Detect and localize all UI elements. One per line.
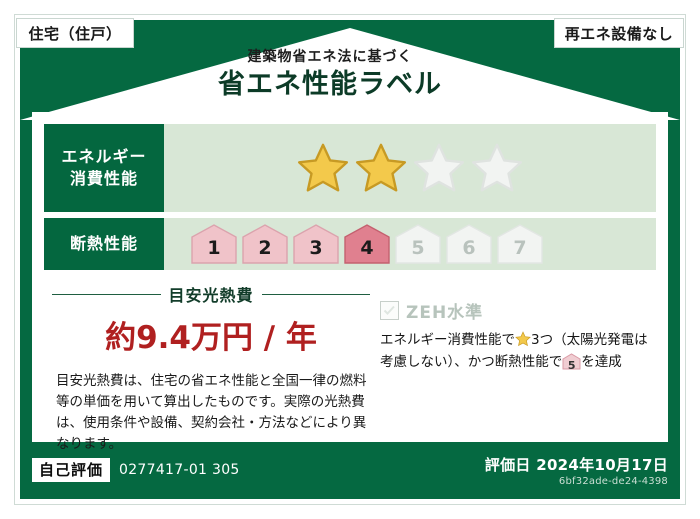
insulation-scale: 1234567 — [190, 224, 544, 264]
insulation-badge-icon: 5 — [562, 353, 581, 370]
label-subtitle: 建築物省エネ法に基づく — [0, 48, 660, 66]
zeh-title: ZEH水準 — [406, 298, 483, 323]
insulation-level-6: 6 — [445, 224, 493, 264]
tag-renewable-energy: 再エネ設備なし — [554, 18, 684, 48]
row-energy-performance: エネルギー 消費性能 — [44, 124, 656, 212]
evaluation-hash: 6bf32ade-de24-4398 — [485, 476, 668, 487]
insulation-level-5: 5 — [394, 224, 442, 264]
zeh-block: ZEH水準 エネルギー消費性能で 3つ（太陽光発電は考慮しない）、かつ断熱性能で… — [380, 298, 654, 373]
roof-title-group: 建築物省エネ法に基づく 省エネ性能ラベル — [0, 48, 660, 102]
row-insulation-label: 断熱性能 — [44, 218, 164, 270]
row-insulation-performance: 断熱性能 1234567 — [44, 218, 656, 270]
row-energy-label-line2: 消費性能 — [70, 168, 138, 190]
utility-cost-title: 目安光熱費 — [169, 282, 254, 306]
insulation-level-value: 4 — [360, 239, 373, 264]
insulation-level-value: 1 — [207, 239, 220, 264]
zeh-description: エネルギー消費性能で 3つ（太陽光発電は考慮しない）、かつ断熱性能で 5を達成 — [380, 329, 654, 373]
row-insulation-value: 1234567 — [164, 218, 656, 270]
star-icon — [515, 331, 531, 347]
energy-label-root: 建築物省エネ法に基づく 省エネ性能ラベル 住宅（住戸） 再エネ設備なし エネルギ… — [0, 0, 700, 519]
utility-cost-heading: 目安光熱費 — [52, 282, 370, 306]
footer-right-group: 評価日 2024年10月17日 6bf32ade-de24-4398 — [485, 454, 668, 487]
insulation-level-value: 3 — [309, 239, 322, 264]
evaluation-id: 0277417-01 305 — [119, 462, 240, 478]
star-rating — [296, 142, 524, 194]
insulation-level-value: 6 — [462, 239, 475, 264]
insulation-level-7: 7 — [496, 224, 544, 264]
self-evaluation-badge: 自己評価 — [32, 458, 110, 482]
rule-right — [262, 294, 371, 295]
label-title: 省エネ性能ラベル — [0, 68, 660, 102]
insulation-level-4: 4 — [343, 224, 391, 264]
insulation-level-value: 5 — [411, 239, 424, 264]
row-energy-label: エネルギー 消費性能 — [44, 124, 164, 212]
utility-cost-note: 目安光熱費は、住宅の省エネ性能と全国一律の燃料等の単価を用いて算出したものです。… — [52, 371, 370, 455]
utility-cost-block: 目安光熱費 約9.4万円 / 年 目安光熱費は、住宅の省エネ性能と全国一律の燃料… — [52, 282, 370, 455]
star-filled-icon — [354, 142, 408, 194]
insulation-level-3: 3 — [292, 224, 340, 264]
zeh-desc-part1: エネルギー消費性能で — [380, 332, 515, 348]
label-card: エネルギー 消費性能 断熱性能 1234567 目安光熱費 約9.4万円 / 年 — [32, 112, 668, 442]
row-energy-label-line1: エネルギー — [61, 146, 146, 168]
zeh-heading: ZEH水準 — [380, 298, 654, 323]
insulation-level-value: 7 — [513, 239, 526, 264]
insulation-level-1: 1 — [190, 224, 238, 264]
checkbox-unchecked-icon[interactable] — [380, 301, 399, 320]
rule-left — [52, 294, 161, 295]
evaluation-date: 評価日 2024年10月17日 — [485, 454, 668, 475]
utility-cost-amount: 約9.4万円 / 年 — [52, 312, 370, 357]
tag-housing-type: 住宅（住戸） — [16, 18, 134, 48]
row-insulation-label-line1: 断熱性能 — [70, 233, 138, 255]
insulation-level-value: 2 — [258, 239, 271, 264]
insulation-badge-value: 5 — [562, 355, 581, 377]
star-empty-icon — [470, 142, 524, 194]
label-footer: 自己評価 0277417-01 305 評価日 2024年10月17日 6bf3… — [32, 452, 668, 488]
zeh-desc-part3: を達成 — [581, 354, 622, 370]
insulation-level-2: 2 — [241, 224, 289, 264]
row-energy-value — [164, 124, 656, 212]
star-empty-icon — [412, 142, 466, 194]
star-filled-icon — [296, 142, 350, 194]
